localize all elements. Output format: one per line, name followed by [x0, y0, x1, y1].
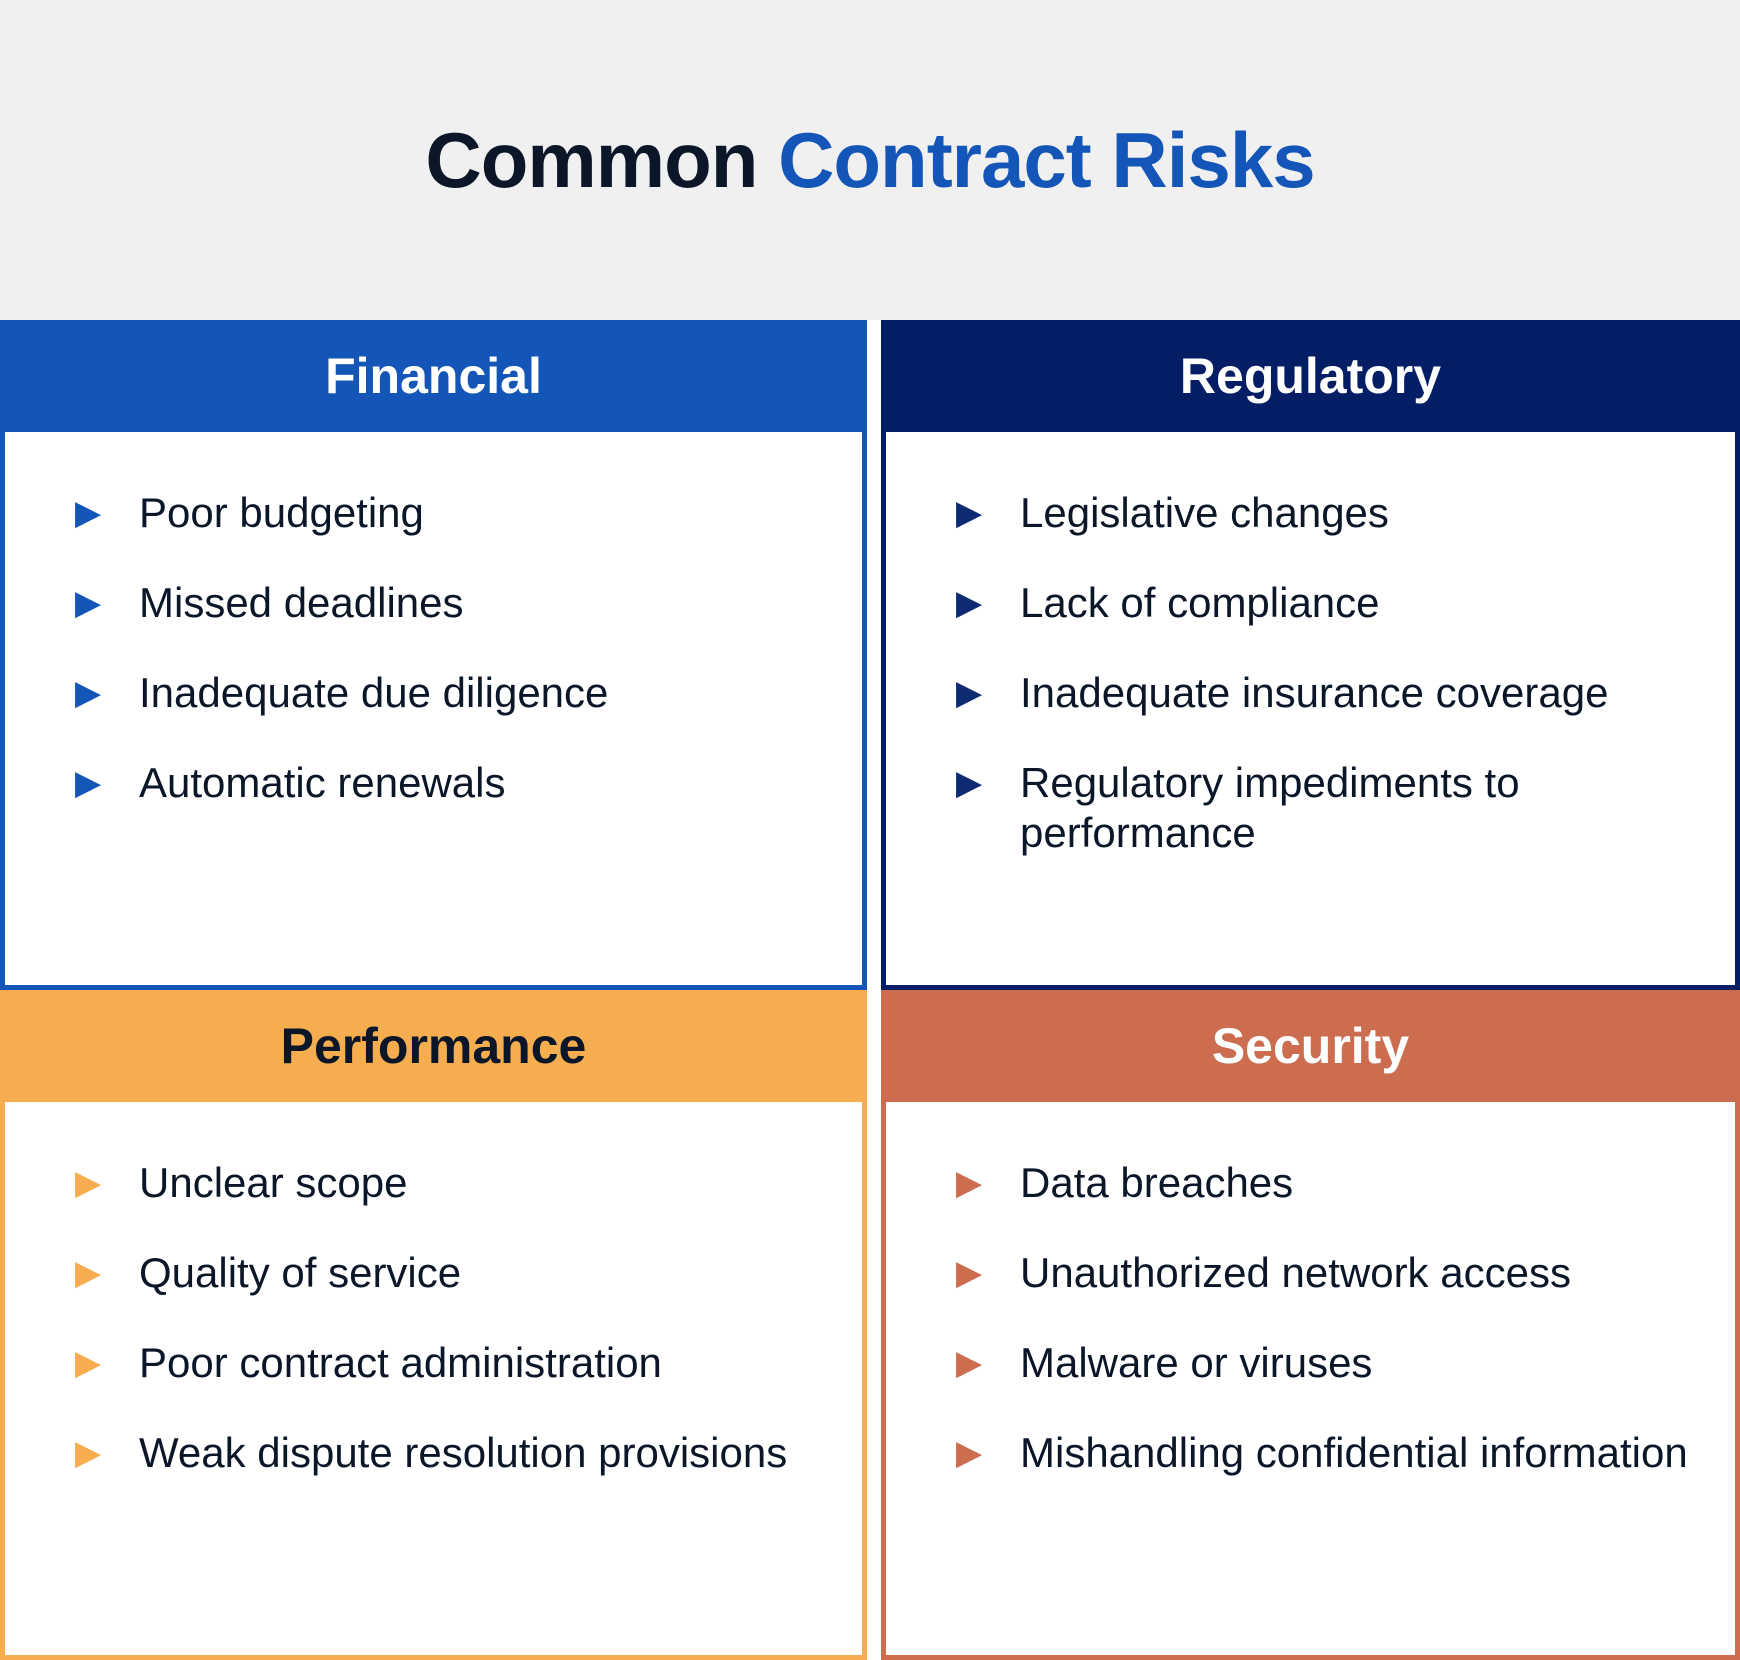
list-item-label: Unauthorized network access [1020, 1248, 1571, 1298]
risk-card-title-performance: Performance [281, 1021, 587, 1071]
list-item-label: Automatic renewals [139, 758, 506, 808]
triangle-bullet-icon: ▶ [75, 760, 109, 806]
list-item-label: Poor budgeting [139, 488, 424, 538]
list-item-label: Unclear scope [139, 1158, 407, 1208]
contract-risks-infographic: Common Contract Risks Financial ▶ Poor b… [0, 0, 1740, 1660]
risk-card-body-financial: ▶ Poor budgeting ▶ Missed deadlines ▶ In… [5, 432, 862, 985]
list-item: ▶ Lack of compliance [956, 578, 1705, 628]
list-item-label: Mishandling confidential information [1020, 1428, 1688, 1478]
risk-list-financial: ▶ Poor budgeting ▶ Missed deadlines ▶ In… [75, 488, 832, 808]
list-item: ▶ Unclear scope [75, 1158, 832, 1208]
list-item: ▶ Missed deadlines [75, 578, 832, 628]
list-item-label: Legislative changes [1020, 488, 1389, 538]
list-item: ▶ Malware or viruses [956, 1338, 1705, 1388]
triangle-bullet-icon: ▶ [956, 1430, 990, 1476]
list-item-label: Quality of service [139, 1248, 461, 1298]
triangle-bullet-icon: ▶ [956, 1160, 990, 1206]
triangle-bullet-icon: ▶ [956, 580, 990, 626]
title-banner: Common Contract Risks [0, 0, 1740, 320]
list-item: ▶ Regulatory impediments to performance [956, 758, 1705, 858]
list-item: ▶ Mishandling confidential information [956, 1428, 1705, 1478]
list-item-label: Weak dispute resolution provisions [139, 1428, 787, 1478]
risk-card-title-financial: Financial [325, 351, 542, 401]
page-title: Common Contract Risks [425, 121, 1314, 199]
list-item-label: Data breaches [1020, 1158, 1293, 1208]
triangle-bullet-icon: ▶ [956, 1340, 990, 1386]
risk-card-header-security: Security [881, 990, 1740, 1102]
risk-card-body-performance: ▶ Unclear scope ▶ Quality of service ▶ P… [5, 1102, 862, 1655]
triangle-bullet-icon: ▶ [75, 580, 109, 626]
list-item: ▶ Legislative changes [956, 488, 1705, 538]
list-item: ▶ Poor budgeting [75, 488, 832, 538]
risk-card-security: Security ▶ Data breaches ▶ Unauthorized … [881, 990, 1740, 1660]
risk-category-grid: Financial ▶ Poor budgeting ▶ Missed dead… [0, 320, 1740, 1660]
triangle-bullet-icon: ▶ [75, 1160, 109, 1206]
list-item-label: Regulatory impediments to performance [1020, 758, 1705, 858]
list-item: ▶ Quality of service [75, 1248, 832, 1298]
triangle-bullet-icon: ▶ [75, 670, 109, 716]
triangle-bullet-icon: ▶ [956, 760, 990, 806]
list-item: ▶ Inadequate due diligence [75, 668, 832, 718]
list-item: ▶ Data breaches [956, 1158, 1705, 1208]
page-title-part-primary: Common [425, 116, 778, 204]
list-item: ▶ Inadequate insurance coverage [956, 668, 1705, 718]
triangle-bullet-icon: ▶ [956, 490, 990, 536]
triangle-bullet-icon: ▶ [956, 1250, 990, 1296]
list-item: ▶ Automatic renewals [75, 758, 832, 808]
list-item: ▶ Poor contract administration [75, 1338, 832, 1388]
list-item-label: Lack of compliance [1020, 578, 1380, 628]
risk-card-financial: Financial ▶ Poor budgeting ▶ Missed dead… [0, 320, 867, 990]
risk-card-body-security: ▶ Data breaches ▶ Unauthorized network a… [886, 1102, 1735, 1655]
risk-card-header-regulatory: Regulatory [881, 320, 1740, 432]
list-item: ▶ Unauthorized network access [956, 1248, 1705, 1298]
risk-card-header-financial: Financial [0, 320, 867, 432]
risk-list-security: ▶ Data breaches ▶ Unauthorized network a… [956, 1158, 1705, 1478]
list-item-label: Inadequate insurance coverage [1020, 668, 1608, 718]
triangle-bullet-icon: ▶ [75, 490, 109, 536]
risk-card-title-regulatory: Regulatory [1180, 351, 1441, 401]
risk-card-performance: Performance ▶ Unclear scope ▶ Quality of… [0, 990, 867, 1660]
page-title-part-accent: Contract Risks [778, 116, 1315, 204]
risk-card-regulatory: Regulatory ▶ Legislative changes ▶ Lack … [881, 320, 1740, 990]
risk-card-body-regulatory: ▶ Legislative changes ▶ Lack of complian… [886, 432, 1735, 985]
risk-card-title-security: Security [1212, 1021, 1409, 1071]
list-item-label: Malware or viruses [1020, 1338, 1372, 1388]
risk-card-header-performance: Performance [0, 990, 867, 1102]
triangle-bullet-icon: ▶ [956, 670, 990, 716]
risk-list-regulatory: ▶ Legislative changes ▶ Lack of complian… [956, 488, 1705, 858]
triangle-bullet-icon: ▶ [75, 1340, 109, 1386]
triangle-bullet-icon: ▶ [75, 1250, 109, 1296]
list-item: ▶ Weak dispute resolution provisions [75, 1428, 832, 1478]
list-item-label: Missed deadlines [139, 578, 464, 628]
triangle-bullet-icon: ▶ [75, 1430, 109, 1476]
list-item-label: Inadequate due diligence [139, 668, 608, 718]
list-item-label: Poor contract administration [139, 1338, 662, 1388]
risk-list-performance: ▶ Unclear scope ▶ Quality of service ▶ P… [75, 1158, 832, 1478]
